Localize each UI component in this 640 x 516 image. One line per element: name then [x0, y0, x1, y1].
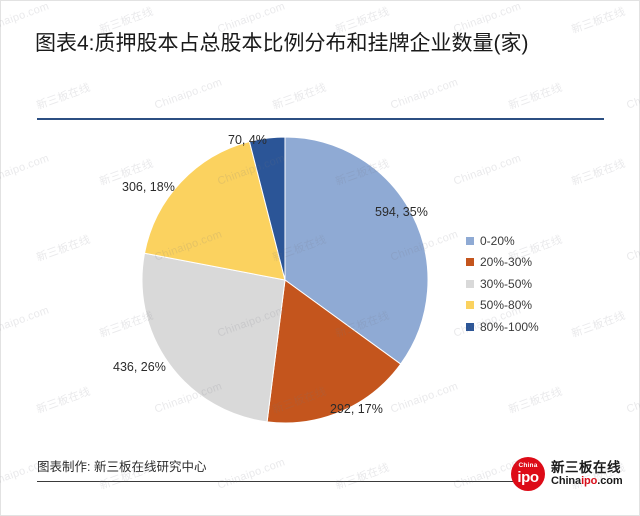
pie-data-label-0-20: 594, 35%: [375, 205, 428, 219]
legend-label-80-100: 80%-100%: [480, 320, 539, 334]
footer-divider: [37, 481, 515, 482]
logo-name-en-accent: ipo: [581, 475, 597, 487]
legend-item-30-50[interactable]: 30%-50%: [466, 273, 539, 295]
pie-slice-group: [142, 137, 428, 423]
legend-label-20-30: 20%-30%: [480, 255, 532, 269]
logo-name-en-suffix: .com: [597, 475, 622, 487]
legend-swatch-icon-80-100: [466, 323, 474, 331]
legend-item-20-30[interactable]: 20%-30%: [466, 252, 539, 274]
pie-svg: [140, 135, 430, 425]
logo-name-en: Chinaipo.com: [551, 475, 623, 488]
logo-name-cn: 新三板在线: [551, 460, 623, 475]
legend-label-0-20: 0-20%: [480, 234, 515, 248]
pie-data-label-30-50: 436, 26%: [113, 360, 166, 374]
pie-data-label-50-80: 306, 18%: [122, 180, 175, 194]
chinaipo-logo-icon: China ipo: [511, 457, 545, 491]
logo-text-block: 新三板在线 Chinaipo.com: [551, 460, 623, 488]
legend-swatch-icon-0-20: [466, 237, 474, 245]
brand-logo[interactable]: China ipo 新三板在线 Chinaipo.com: [511, 457, 623, 491]
pie-chart: 70, 4% 594, 35% 292, 17% 436, 26% 306, 1…: [0, 125, 460, 435]
title-block: 图表4:质押股本占总股本比例分布和挂牌企业数量(家): [35, 28, 605, 59]
pie-slice-30-50[interactable]: [142, 253, 285, 422]
legend-swatch-icon-20-30: [466, 258, 474, 266]
legend-item-50-80[interactable]: 50%-80%: [466, 295, 539, 317]
logo-name-en-main: China: [551, 475, 581, 487]
legend-item-0-20[interactable]: 0-20%: [466, 230, 539, 252]
pie-data-label-80-100: 70, 4%: [228, 133, 267, 147]
logo-mark-bottom-text: ipo: [517, 470, 538, 485]
pie-data-label-20-30: 292, 17%: [330, 402, 383, 416]
footer-credit: 图表制作: 新三板在线研究中心: [37, 456, 206, 475]
legend-label-30-50: 30%-50%: [480, 277, 532, 291]
chart-legend: 0-20% 20%-30% 30%-50% 50%-80% 80%-100%: [466, 230, 539, 338]
title-divider: [37, 118, 604, 120]
legend-swatch-icon-30-50: [466, 280, 474, 288]
legend-item-80-100[interactable]: 80%-100%: [466, 316, 539, 338]
legend-swatch-icon-50-80: [466, 301, 474, 309]
page-title: 图表4:质押股本占总股本比例分布和挂牌企业数量(家): [35, 28, 605, 59]
legend-label-50-80: 50%-80%: [480, 298, 532, 312]
